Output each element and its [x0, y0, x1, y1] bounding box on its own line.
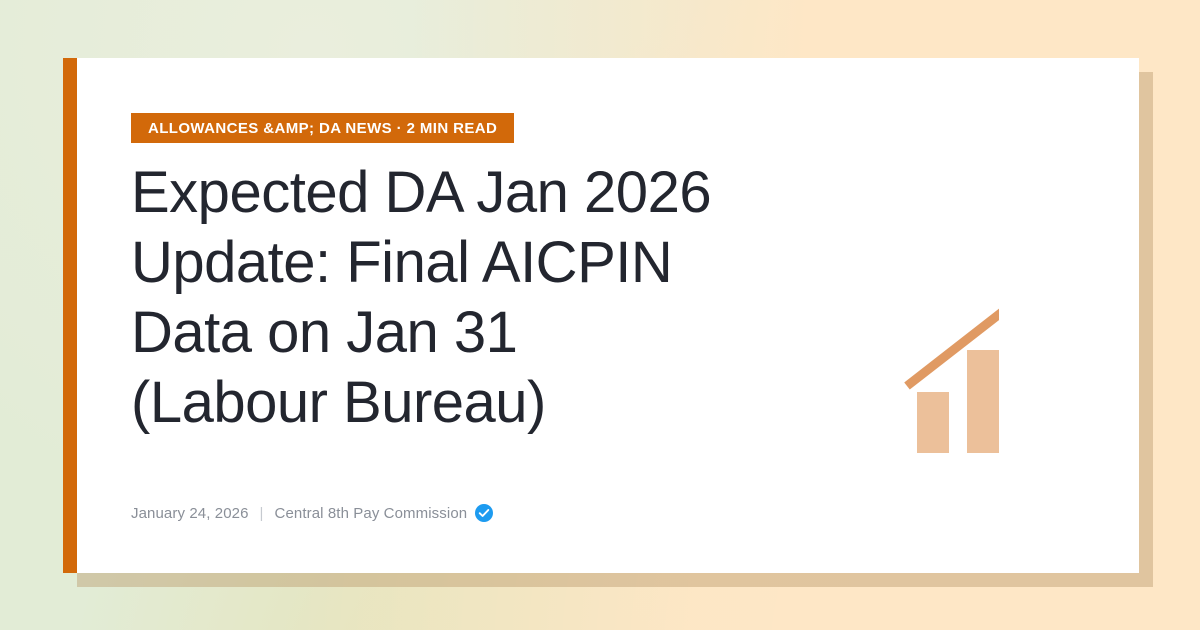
article-card: ALLOWANCES &AMP; DA NEWS · 2 MIN READ Ex… — [63, 58, 1139, 573]
page-title: Expected DA Jan 2026 Update: Final AICPI… — [131, 158, 831, 438]
growth-bar-chart-icon — [829, 213, 999, 463]
card-content: ALLOWANCES &AMP; DA NEWS · 2 MIN READ Ex… — [77, 58, 1139, 573]
byline: January 24, 2026 | Central 8th Pay Commi… — [131, 504, 493, 522]
category-badge[interactable]: ALLOWANCES &AMP; DA NEWS · 2 MIN READ — [131, 113, 514, 143]
bar-2 — [967, 350, 999, 453]
author-name: Central 8th Pay Commission — [275, 505, 468, 522]
social-card-canvas: ALLOWANCES &AMP; DA NEWS · 2 MIN READ Ex… — [0, 0, 1200, 630]
byline-separator: | — [260, 505, 264, 522]
card-left-accent-bar — [63, 58, 77, 573]
publish-date: January 24, 2026 — [131, 505, 249, 522]
verified-check-icon — [475, 504, 493, 522]
bar-1 — [917, 392, 949, 453]
category-badge-label: ALLOWANCES &AMP; DA NEWS · 2 MIN READ — [148, 121, 497, 136]
